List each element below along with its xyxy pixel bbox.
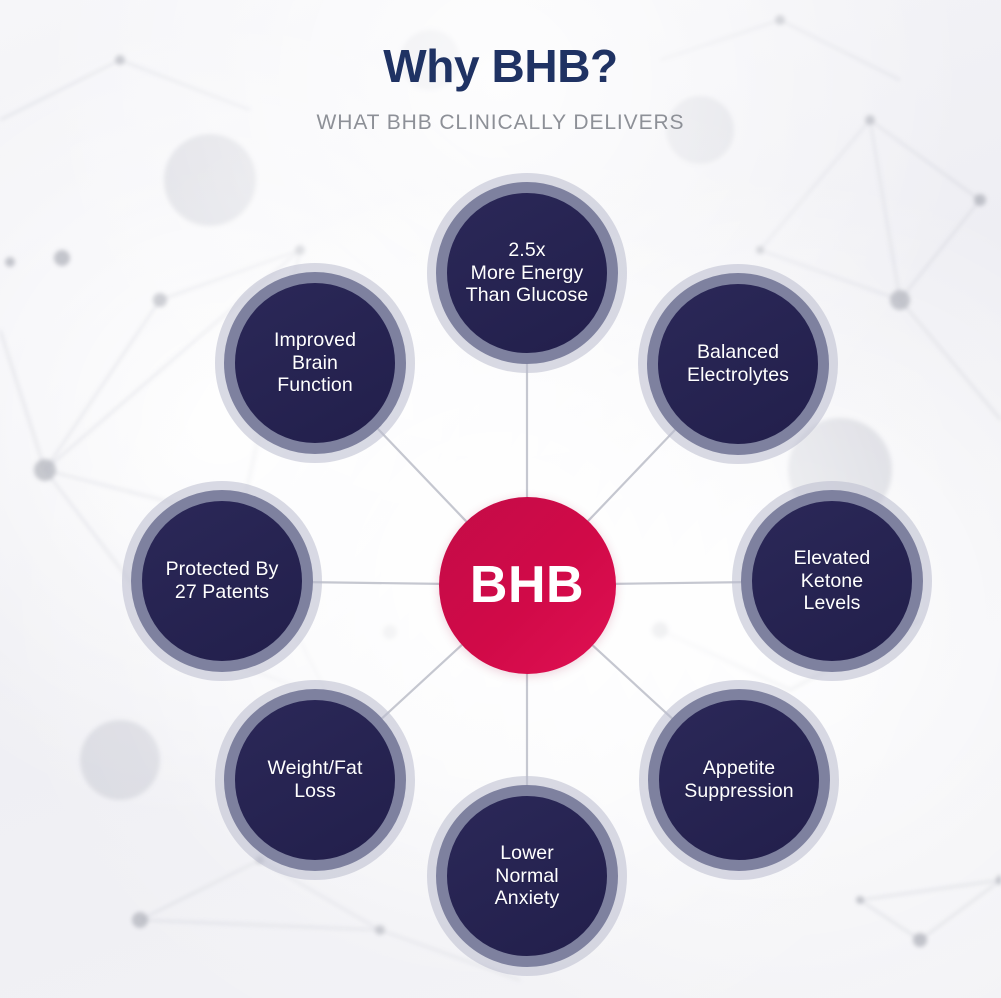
node-label: ImprovedBrainFunction — [268, 329, 362, 397]
center-node-label: BHB — [470, 559, 584, 611]
node-label: LowerNormalAnxiety — [489, 842, 566, 910]
page-title: Why BHB? — [0, 42, 1001, 90]
spoke-line-appetite-suppression — [590, 643, 675, 721]
node-weight-fat-loss[interactable]: Weight/FatLoss — [224, 689, 406, 871]
spoke-line-weight-fat-loss — [379, 643, 464, 721]
node-label: ElevatedKetoneLevels — [788, 547, 877, 615]
node-more-energy[interactable]: 2.5xMore EnergyThan Glucose — [436, 182, 618, 364]
center-node-bhb[interactable]: BHB — [439, 497, 616, 674]
spoke-line-elevated-ketones — [613, 582, 745, 584]
node-label: Protected By27 Patents — [160, 558, 285, 603]
bhb-benefits-diagram: BHB 2.5xMore EnergyThan Glucose Balanced… — [0, 0, 1001, 998]
node-protected-by-patents[interactable]: Protected By27 Patents — [131, 490, 313, 672]
node-improved-brain-function[interactable]: ImprovedBrainFunction — [224, 272, 406, 454]
node-label: 2.5xMore EnergyThan Glucose — [460, 239, 595, 307]
node-appetite-suppression[interactable]: AppetiteSuppression — [648, 689, 830, 871]
node-label: Weight/FatLoss — [262, 757, 369, 802]
node-label: BalancedElectrolytes — [681, 341, 795, 386]
spoke-line-improved-brain — [375, 426, 468, 523]
node-balanced-electrolytes[interactable]: BalancedElectrolytes — [647, 273, 829, 455]
node-elevated-ketone-levels[interactable]: ElevatedKetoneLevels — [741, 490, 923, 672]
spoke-line-protected-patents — [309, 582, 441, 584]
spoke-line-balanced-electrolytes — [586, 427, 678, 523]
node-lower-normal-anxiety[interactable]: LowerNormalAnxiety — [436, 785, 618, 967]
node-label: AppetiteSuppression — [678, 757, 800, 802]
header: Why BHB? WHAT BHB CLINICALLY DELIVERS — [0, 0, 1001, 135]
page-subtitle: WHAT BHB CLINICALLY DELIVERS — [0, 111, 1001, 135]
